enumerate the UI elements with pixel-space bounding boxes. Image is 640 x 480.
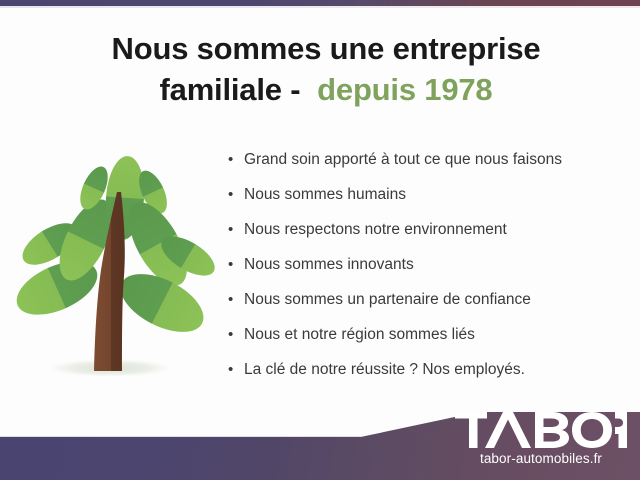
bullet-marker-icon: • (228, 255, 244, 274)
list-item-label: Nous respectons notre environnement (244, 220, 628, 240)
bullet-marker-icon: • (228, 150, 244, 169)
brand-website-label: tabor-automobiles.fr (455, 450, 627, 467)
family-tree-illustration (10, 140, 220, 390)
bullet-marker-icon: • (228, 360, 244, 379)
list-item-label: Grand soin apporté à tout ce que nous fa… (244, 150, 628, 170)
value-bullet-list: • Grand soin apporté à tout ce que nous … (228, 150, 628, 395)
list-item-label: Nous sommes humains (244, 185, 628, 205)
headline-line-2: familiale - depuis 1978 (40, 69, 612, 110)
tabor-wordmark-icon (455, 412, 627, 448)
list-item: • Nous respectons notre environnement (228, 220, 628, 255)
headline-accent-since: depuis 1978 (317, 72, 492, 107)
slide-canvas: Nous sommes une entreprise familiale - d… (0, 0, 640, 480)
list-item-label: Nous sommes innovants (244, 255, 628, 275)
tree-icon (10, 140, 220, 390)
headline-dash: - (282, 72, 317, 107)
list-item: • La clé de notre réussite ? Nos employé… (228, 360, 628, 395)
list-item: • Nous sommes un partenaire de confiance (228, 290, 628, 325)
headline-prefix: familiale (160, 72, 282, 107)
bullet-marker-icon: • (228, 185, 244, 204)
bullet-marker-icon: • (228, 290, 244, 309)
top-accent-hairline (0, 6, 640, 8)
list-item-label: La clé de notre réussite ? Nos employés. (244, 360, 628, 380)
list-item: • Nous et notre région sommes liés (228, 325, 628, 360)
list-item: • Nous sommes humains (228, 185, 628, 220)
list-item: • Nous sommes innovants (228, 255, 628, 290)
bullet-marker-icon: • (228, 220, 244, 239)
footer-band-highlight (0, 435, 362, 437)
brand-logo[interactable]: tabor-automobiles.fr (455, 412, 635, 474)
list-item: • Grand soin apporté à tout ce que nous … (228, 150, 628, 185)
list-item-label: Nous et notre région sommes liés (244, 325, 628, 345)
page-title: Nous sommes une entreprise familiale - d… (40, 28, 612, 110)
bullet-marker-icon: • (228, 325, 244, 344)
headline-line-1: Nous sommes une entreprise (40, 28, 612, 69)
list-item-label: Nous sommes un partenaire de confiance (244, 290, 628, 310)
